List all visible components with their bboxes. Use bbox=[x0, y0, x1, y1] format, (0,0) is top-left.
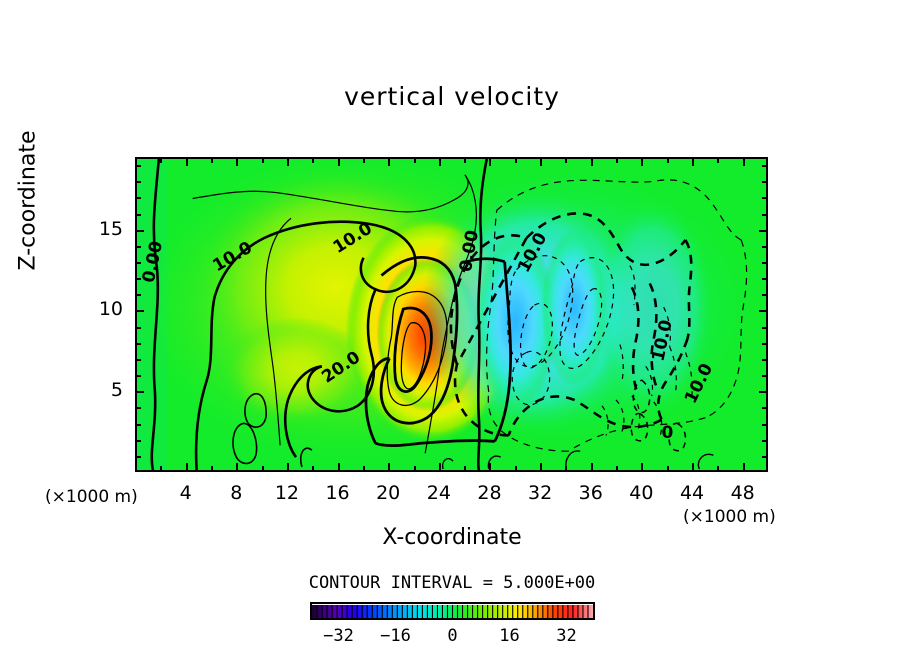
tick-mark bbox=[338, 157, 340, 166]
contour-label: 10.0 bbox=[330, 219, 376, 258]
tick-mark bbox=[135, 197, 141, 199]
tick-mark bbox=[135, 230, 144, 232]
colorbar-tick--32: −32 bbox=[316, 626, 362, 646]
tick-mark bbox=[211, 157, 213, 163]
contour-label: 0.00 bbox=[139, 239, 167, 284]
tick-mark bbox=[160, 466, 162, 472]
x-tick-label-20: 20 bbox=[368, 482, 408, 504]
tick-mark bbox=[565, 466, 567, 472]
tick-mark bbox=[135, 375, 141, 377]
tick-mark bbox=[762, 343, 768, 345]
tick-mark bbox=[759, 230, 768, 232]
tick-mark bbox=[667, 157, 669, 163]
x-tick-label-28: 28 bbox=[469, 482, 509, 504]
colorbar-tick-16: 16 bbox=[487, 626, 533, 646]
tick-mark bbox=[591, 463, 593, 472]
tick-mark bbox=[641, 157, 643, 166]
tick-mark bbox=[616, 466, 618, 472]
tick-mark bbox=[540, 463, 542, 472]
tick-mark bbox=[762, 359, 768, 361]
tick-mark bbox=[135, 440, 141, 442]
tick-mark bbox=[135, 214, 141, 216]
tick-mark bbox=[759, 391, 768, 393]
tick-mark bbox=[717, 466, 719, 472]
tick-mark bbox=[489, 463, 491, 472]
y-tick-label-10: 10 bbox=[83, 298, 123, 320]
tick-mark bbox=[762, 278, 768, 280]
contour-label: 10.0 bbox=[209, 238, 255, 276]
tick-mark bbox=[160, 157, 162, 163]
contour-label: 0.00 bbox=[456, 229, 483, 274]
tick-mark bbox=[692, 157, 694, 166]
tick-mark bbox=[236, 157, 238, 166]
tick-mark bbox=[135, 310, 144, 312]
tick-mark bbox=[211, 466, 213, 472]
tick-mark bbox=[135, 407, 141, 409]
x-tick-label-4: 4 bbox=[166, 482, 206, 504]
x-tick-label-32: 32 bbox=[520, 482, 560, 504]
tick-mark bbox=[287, 463, 289, 472]
tick-mark bbox=[762, 214, 768, 216]
tick-mark bbox=[591, 157, 593, 166]
tick-mark bbox=[388, 463, 390, 472]
tick-mark bbox=[363, 157, 365, 163]
tick-mark bbox=[312, 157, 314, 163]
tick-mark bbox=[762, 327, 768, 329]
tick-mark bbox=[414, 466, 416, 472]
tick-mark bbox=[363, 466, 365, 472]
tick-mark bbox=[762, 294, 768, 296]
tick-mark bbox=[135, 391, 144, 393]
tick-mark bbox=[135, 424, 141, 426]
contour-label: 20.0 bbox=[318, 347, 364, 387]
tick-mark bbox=[641, 463, 643, 472]
x-tick-label-8: 8 bbox=[216, 482, 256, 504]
tick-mark bbox=[287, 157, 289, 166]
tick-mark bbox=[464, 157, 466, 163]
tick-mark bbox=[667, 466, 669, 472]
colorbar bbox=[310, 602, 595, 620]
tick-mark bbox=[414, 157, 416, 163]
tick-mark bbox=[762, 424, 768, 426]
x-tick-label-12: 12 bbox=[267, 482, 307, 504]
tick-mark bbox=[439, 463, 441, 472]
tick-mark bbox=[515, 466, 517, 472]
tick-mark bbox=[489, 157, 491, 166]
y-tick-label-15: 15 bbox=[83, 218, 123, 240]
tick-mark bbox=[616, 157, 618, 163]
tick-mark bbox=[762, 165, 768, 167]
tick-mark bbox=[540, 157, 542, 166]
x-tick-label-48: 48 bbox=[723, 482, 763, 504]
tick-mark bbox=[135, 181, 141, 183]
tick-mark bbox=[759, 310, 768, 312]
tick-mark bbox=[464, 466, 466, 472]
y-tick-label-5: 5 bbox=[83, 379, 123, 401]
x-tick-label-40: 40 bbox=[621, 482, 661, 504]
tick-mark bbox=[717, 157, 719, 163]
tick-mark bbox=[565, 157, 567, 163]
tick-mark bbox=[692, 463, 694, 472]
tick-mark bbox=[762, 375, 768, 377]
tick-mark bbox=[135, 327, 141, 329]
tick-mark bbox=[762, 456, 768, 458]
x-axis-unit: (×1000 m) bbox=[683, 507, 776, 527]
tick-mark bbox=[135, 165, 141, 167]
contour-label: 10.0 bbox=[514, 229, 551, 276]
y-axis-label: Z-coordinate bbox=[16, 51, 41, 351]
colorbar-tick--16: −16 bbox=[373, 626, 419, 646]
tick-mark bbox=[762, 181, 768, 183]
tick-mark bbox=[186, 463, 188, 472]
tick-mark bbox=[338, 463, 340, 472]
tick-mark bbox=[135, 343, 141, 345]
tick-mark bbox=[186, 157, 188, 166]
contour-label: 10.0 bbox=[681, 360, 717, 407]
contour-labels: 0.0010.010.020.00.0010.010.010.00 bbox=[137, 159, 768, 472]
contour-label: 10.0 bbox=[648, 318, 676, 363]
x-axis-label: X-coordinate bbox=[0, 525, 904, 550]
x-tick-label-36: 36 bbox=[571, 482, 611, 504]
y-axis-unit: (×1000 m) bbox=[45, 487, 138, 507]
tick-mark bbox=[743, 463, 745, 472]
tick-mark bbox=[762, 246, 768, 248]
x-tick-label-16: 16 bbox=[318, 482, 358, 504]
x-tick-label-24: 24 bbox=[419, 482, 459, 504]
contour-label: 0 bbox=[662, 423, 674, 443]
tick-mark bbox=[236, 463, 238, 472]
tick-mark bbox=[135, 246, 141, 248]
tick-mark bbox=[262, 466, 264, 472]
page-title: vertical velocity bbox=[0, 82, 904, 111]
colorbar-tick-0: 0 bbox=[430, 626, 476, 646]
tick-mark bbox=[312, 466, 314, 472]
tick-mark bbox=[262, 157, 264, 163]
tick-mark bbox=[762, 440, 768, 442]
colorbar-gradient bbox=[312, 605, 593, 619]
tick-mark bbox=[135, 262, 141, 264]
contour-interval-text: CONTOUR INTERVAL = 5.000E+00 bbox=[0, 573, 904, 593]
tick-mark bbox=[762, 197, 768, 199]
tick-mark bbox=[762, 262, 768, 264]
tick-mark bbox=[135, 294, 141, 296]
x-tick-label-44: 44 bbox=[672, 482, 712, 504]
tick-mark bbox=[135, 359, 141, 361]
tick-mark bbox=[439, 157, 441, 166]
tick-mark bbox=[388, 157, 390, 166]
tick-mark bbox=[762, 407, 768, 409]
contour-plot-area: 0.0010.010.020.00.0010.010.010.00 bbox=[135, 157, 768, 472]
colorbar-tick-32: 32 bbox=[544, 626, 590, 646]
tick-mark bbox=[135, 456, 141, 458]
tick-mark bbox=[135, 278, 141, 280]
tick-mark bbox=[743, 157, 745, 166]
tick-mark bbox=[515, 157, 517, 163]
